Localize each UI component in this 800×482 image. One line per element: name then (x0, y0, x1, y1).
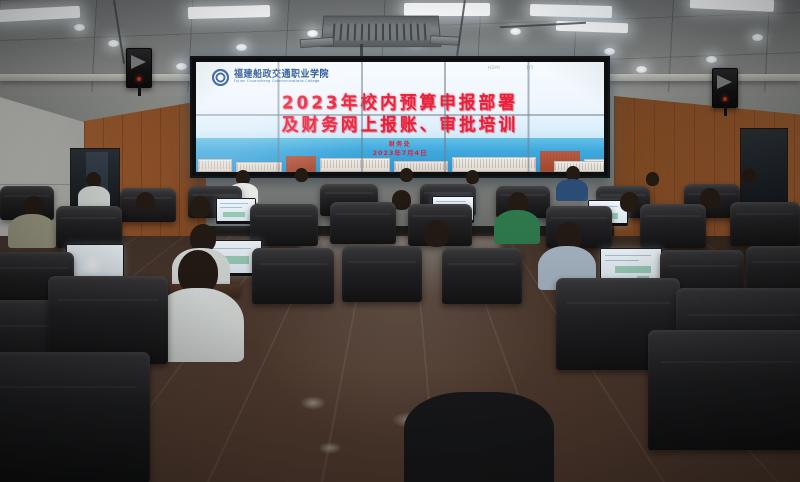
attendee-head (424, 220, 449, 247)
slide-title-line-2: 及财务网上报账、审批培训 (196, 113, 604, 136)
attendee-head (620, 192, 639, 212)
monitor-content-line (211, 248, 251, 249)
monitor-content-line (605, 260, 639, 261)
air-conditioner-unit (321, 16, 442, 48)
college-name-cn: 福建船政交通职业学院 (234, 71, 329, 81)
video-wall-screen: 福建船政交通职业学院 Fujian Chuanzheng Communicati… (196, 62, 604, 172)
speaker-led-icon (137, 77, 141, 81)
seat[interactable] (0, 352, 150, 482)
right-wall-speaker (712, 68, 738, 108)
college-seal-icon (212, 69, 229, 86)
monitor-content-cell (223, 212, 245, 217)
monitor-content-line (436, 201, 466, 202)
ceiling-downlight (176, 63, 187, 70)
slide-title: 2023年校内预算申报部署 及财务网上报账、审批培训 (196, 92, 604, 136)
screen-osd-right: 1/5 (526, 65, 534, 70)
seat[interactable] (48, 276, 168, 364)
attendee-head (295, 168, 308, 182)
attendee-head (466, 170, 479, 184)
campus-building (320, 158, 390, 172)
campus-building (198, 159, 232, 172)
left-wall-speaker (126, 48, 152, 88)
monitor-screen (67, 245, 123, 279)
ceiling-panel-light (188, 5, 270, 19)
ceiling-downlight (74, 24, 85, 31)
attendee (78, 186, 110, 208)
speaker-mount-stem (724, 106, 727, 116)
attendee (404, 392, 554, 482)
video-wall[interactable]: 福建船政交通职业学院 Fujian Chuanzheng Communicati… (190, 56, 610, 178)
ceiling-downlight (108, 40, 119, 47)
college-name-block: 福建船政交通职业学院 Fujian Chuanzheng Communicati… (234, 71, 329, 84)
attendee-head (400, 168, 413, 182)
seat[interactable] (342, 246, 422, 302)
floor-light-reflection (318, 442, 342, 454)
attendee (494, 210, 540, 244)
seat[interactable] (648, 330, 800, 450)
screen-osd-left: HDMI (488, 65, 501, 70)
floor-light-reflection (300, 396, 326, 410)
attendee-head (646, 172, 659, 186)
ceiling-panel-light (404, 3, 490, 16)
air-conditioner-grille (332, 24, 431, 41)
speaker-led-icon (723, 97, 727, 101)
seat[interactable] (640, 204, 706, 248)
ceiling-downlight (307, 30, 318, 37)
slide-footer: 财务处 2023年7月4日 (196, 141, 604, 158)
ceiling-panel-light (530, 4, 612, 18)
ceiling-downlight (752, 34, 763, 41)
speaker-cone-icon (131, 55, 146, 69)
seat[interactable] (442, 248, 522, 304)
monitor-glare (79, 255, 105, 275)
air-vane (430, 35, 460, 46)
ceiling-downlight (510, 28, 521, 35)
ceiling-downlight (636, 66, 647, 73)
attendee-head (136, 192, 155, 212)
monitor-content-cell (615, 266, 651, 273)
slide-date: 2023年7月4日 (196, 149, 604, 158)
seat[interactable] (330, 202, 396, 244)
attendee-head (742, 168, 756, 183)
ceiling-downlight (706, 56, 717, 63)
attendee (556, 179, 588, 201)
seat[interactable] (252, 248, 334, 304)
ceiling-downlight (236, 44, 247, 51)
attendee (8, 214, 56, 248)
monitor-content-line (605, 255, 651, 256)
training-room-photo: 福建船政交通职业学院 Fujian Chuanzheng Communicati… (0, 0, 800, 482)
campus-building (452, 157, 536, 172)
seat[interactable] (56, 206, 122, 248)
college-logo: 福建船政交通职业学院 Fujian Chuanzheng Communicati… (212, 69, 329, 86)
slide-title-line-1: 2023年校内预算申报部署 (196, 91, 604, 114)
speaker-mount-stem (138, 86, 141, 96)
speaker-cone-icon (717, 75, 732, 89)
monitor-content-line (220, 203, 248, 204)
ceiling-downlight (604, 48, 615, 55)
seat[interactable] (730, 202, 800, 246)
attendee-head (190, 196, 210, 218)
college-name-en: Fujian Chuanzheng Communications College (234, 80, 329, 84)
monitor-content-line (220, 207, 242, 208)
